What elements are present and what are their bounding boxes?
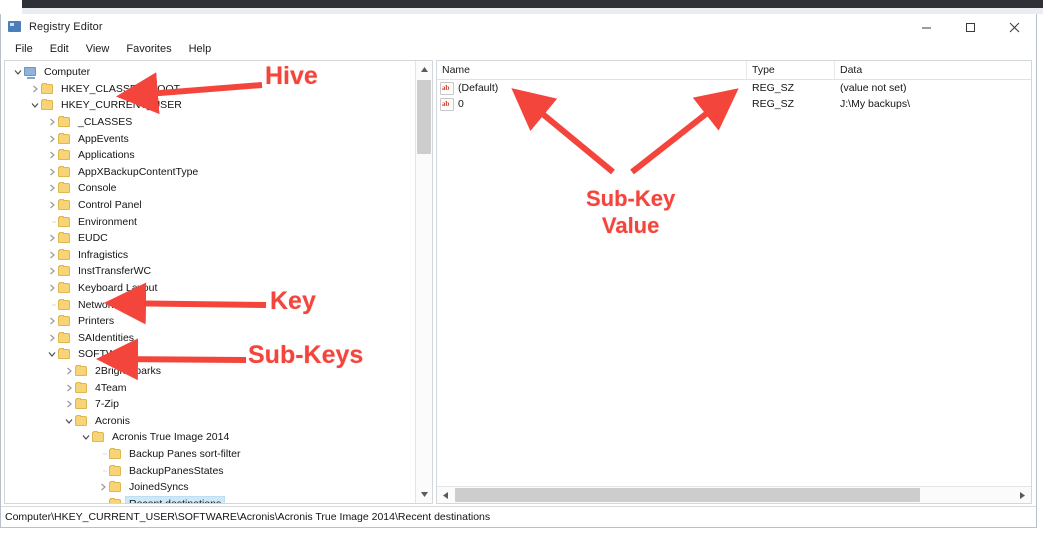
- tree-item-label: InstTransferWC: [75, 264, 154, 278]
- folder-icon: [58, 149, 71, 161]
- tree-item-label: Environment: [75, 215, 140, 229]
- tree-item-label: Infragistics: [75, 248, 131, 262]
- folder-icon: [75, 365, 88, 377]
- chevron-down-icon[interactable]: [62, 413, 75, 429]
- desktop-top-band: [0, 0, 1057, 14]
- tree-item[interactable]: Printers: [5, 313, 416, 330]
- chevron-right-icon[interactable]: [45, 197, 58, 213]
- value-name-label: (Default): [458, 82, 498, 94]
- tree-item-label: BackupPanesStates: [126, 464, 227, 478]
- tree-item-label: AppEvents: [75, 132, 132, 146]
- tree-item-label: Control Panel: [75, 198, 145, 212]
- folder-icon: [75, 382, 88, 394]
- menu-bar: File Edit View Favorites Help: [1, 40, 1036, 58]
- chevron-down-icon[interactable]: [45, 346, 58, 362]
- tree-item[interactable]: AppEvents: [5, 130, 416, 147]
- folder-icon: [75, 415, 88, 427]
- tree-item[interactable]: Environment: [5, 213, 416, 230]
- close-icon[interactable]: [992, 14, 1036, 40]
- registry-tree: ComputerHKEY_CLASSES_ROOTHKEY_CURRENT_US…: [5, 61, 416, 503]
- registry-tree-scroll: ComputerHKEY_CLASSES_ROOTHKEY_CURRENT_US…: [5, 61, 416, 503]
- value-row[interactable]: ab(Default)REG_SZ(value not set): [437, 80, 1031, 96]
- value-type-cell: REG_SZ: [747, 82, 835, 94]
- values-list-body: ab(Default)REG_SZ(value not set)ab0REG_S…: [437, 80, 1031, 112]
- chevron-right-icon[interactable]: [62, 363, 75, 379]
- chevron-right-icon[interactable]: [45, 180, 58, 196]
- tree-item[interactable]: Infragistics: [5, 247, 416, 264]
- folder-icon: [58, 332, 71, 344]
- tree-item-label: Network: [75, 298, 120, 312]
- annotation-subkeys: Sub-Keys: [248, 341, 363, 370]
- top-right-gap: [1043, 0, 1057, 14]
- column-header-data[interactable]: Data: [835, 61, 1030, 79]
- folder-icon: [109, 498, 122, 503]
- value-name-cell: ab0: [437, 98, 747, 111]
- tree-item[interactable]: BackupPanesStates: [5, 462, 416, 479]
- chevron-down-icon[interactable]: [416, 486, 433, 503]
- chevron-right-icon[interactable]: [96, 479, 109, 495]
- string-value-icon: ab: [440, 82, 454, 95]
- tree-item[interactable]: Console: [5, 180, 416, 197]
- folder-icon: [58, 315, 71, 327]
- annotation-subkey-value: Sub-Key Value: [586, 185, 675, 239]
- chevron-down-icon[interactable]: [28, 97, 41, 113]
- string-value-icon: ab: [440, 98, 454, 111]
- window-title: Registry Editor: [29, 21, 103, 33]
- tree-vertical-scrollbar[interactable]: [415, 61, 432, 503]
- folder-icon: [58, 182, 71, 194]
- status-bar: Computer\HKEY_CURRENT_USER\SOFTWARE\Acro…: [1, 506, 1036, 527]
- chevron-down-icon[interactable]: [79, 429, 92, 445]
- tree-item[interactable]: Keyboard Layout: [5, 280, 416, 297]
- chevron-right-icon[interactable]: [45, 147, 58, 163]
- registry-editor-icon: [8, 21, 22, 34]
- registry-editor-window: Registry Editor File Edit View Favorites…: [0, 14, 1037, 528]
- tree-item[interactable]: Backup Panes sort-filter: [5, 446, 416, 463]
- chevron-down-icon[interactable]: [11, 64, 24, 80]
- annotation-subkey-value-line2: Value: [586, 212, 675, 239]
- tree-item-label: Acronis True Image 2014: [109, 430, 232, 444]
- folder-icon: [58, 265, 71, 277]
- tree-item-label: Recent destinations: [126, 497, 224, 503]
- tree-scrollbar-thumb[interactable]: [417, 80, 431, 154]
- top-left-gap: [0, 0, 22, 14]
- folder-icon: [109, 481, 122, 493]
- tree-item[interactable]: 4Team: [5, 379, 416, 396]
- tree-item-label: Computer: [41, 65, 93, 79]
- tree-item[interactable]: Applications: [5, 147, 416, 164]
- tree-item-label: JoinedSyncs: [126, 480, 192, 494]
- values-list-header: Name Type Data: [437, 61, 1031, 80]
- tree-item-label: _CLASSES: [75, 115, 135, 129]
- tree-item-label: SAIdentities: [75, 331, 137, 345]
- tree-item-label: Acronis: [92, 414, 133, 428]
- tree-item[interactable]: 7-Zip: [5, 396, 416, 413]
- chevron-right-icon[interactable]: [28, 81, 41, 97]
- tree-indent-guide: [45, 214, 58, 230]
- folder-icon: [109, 448, 122, 460]
- tree-item-label: HKEY_CLASSES_ROOT: [58, 82, 183, 96]
- folder-icon: [58, 232, 71, 244]
- chevron-right-icon[interactable]: [45, 247, 58, 263]
- chevron-right-icon[interactable]: [45, 313, 58, 329]
- folder-icon: [58, 299, 71, 311]
- folder-icon: [41, 83, 54, 95]
- column-header-name[interactable]: Name: [437, 61, 747, 79]
- tree-item-label: 7-Zip: [92, 397, 122, 411]
- chevron-up-icon[interactable]: [416, 61, 433, 78]
- chevron-right-icon[interactable]: [45, 164, 58, 180]
- tree-item[interactable]: HKEY_CLASSES_ROOT: [5, 81, 416, 98]
- tree-indent-guide: [96, 463, 109, 479]
- annotation-hive: Hive: [265, 62, 318, 91]
- chevron-right-icon[interactable]: [45, 131, 58, 147]
- value-name-label: 0: [458, 98, 464, 110]
- folder-icon: [109, 465, 122, 477]
- menu-edit[interactable]: Edit: [42, 41, 77, 57]
- tree-item-label: 2BrightSparks: [92, 364, 164, 378]
- tree-item-label: HKEY_CURRENT_USER: [58, 98, 185, 112]
- folder-icon: [58, 116, 71, 128]
- folder-icon: [58, 216, 71, 228]
- tree-item[interactable]: Network: [5, 296, 416, 313]
- tree-item-label: Printers: [75, 314, 117, 328]
- value-data-cell: J:\My backups\: [835, 98, 1030, 110]
- folder-icon: [92, 431, 105, 443]
- registry-tree-pane: ComputerHKEY_CLASSES_ROOTHKEY_CURRENT_US…: [4, 60, 433, 504]
- computer-icon: [24, 66, 37, 78]
- menu-help[interactable]: Help: [181, 41, 220, 57]
- tree-item[interactable]: Computer: [5, 64, 416, 81]
- chevron-right-icon[interactable]: [45, 280, 58, 296]
- minimize-icon[interactable]: [904, 14, 948, 40]
- status-path: Computer\HKEY_CURRENT_USER\SOFTWARE\Acro…: [1, 511, 490, 523]
- column-header-type[interactable]: Type: [747, 61, 835, 79]
- tree-item[interactable]: Acronis: [5, 412, 416, 429]
- annotation-key: Key: [270, 287, 316, 316]
- chevron-right-icon[interactable]: [45, 330, 58, 346]
- value-type-cell: REG_SZ: [747, 98, 835, 110]
- tree-item[interactable]: Acronis True Image 2014: [5, 429, 416, 446]
- tree-item-label: EUDC: [75, 231, 111, 245]
- tree-item[interactable]: InstTransferWC: [5, 263, 416, 280]
- tree-indent-guide: [45, 297, 58, 313]
- tree-item-label: SOFTWARE: [75, 347, 140, 361]
- tree-indent-guide: [96, 446, 109, 462]
- menu-favorites[interactable]: Favorites: [118, 41, 179, 57]
- folder-icon: [41, 99, 54, 111]
- menu-view[interactable]: View: [78, 41, 118, 57]
- tree-item-label: AppXBackupContentType: [75, 165, 201, 179]
- tree-item[interactable]: EUDC: [5, 230, 416, 247]
- tree-item[interactable]: JoinedSyncs: [5, 479, 416, 496]
- folder-icon: [58, 282, 71, 294]
- top-dark-strip: [0, 0, 1057, 8]
- tree-item-label: Keyboard Layout: [75, 281, 160, 295]
- folder-icon: [58, 166, 71, 178]
- maximize-icon[interactable]: [948, 14, 992, 40]
- chevron-right-icon[interactable]: [62, 396, 75, 412]
- folder-icon: [58, 133, 71, 145]
- tree-item[interactable]: Recent destinations: [5, 495, 416, 503]
- chevron-right-icon[interactable]: [45, 230, 58, 246]
- value-row[interactable]: ab0REG_SZJ:\My backups\: [437, 96, 1031, 112]
- tree-item[interactable]: HKEY_CURRENT_USER: [5, 97, 416, 114]
- value-name-cell: ab(Default): [437, 82, 747, 95]
- main-content: ComputerHKEY_CLASSES_ROOTHKEY_CURRENT_US…: [4, 60, 1033, 504]
- tree-item-label: 4Team: [92, 381, 130, 395]
- values-list-pane: Name Type Data ab(Default)REG_SZ(value n…: [436, 60, 1032, 504]
- chevron-right-icon[interactable]: [62, 380, 75, 396]
- tree-item-label: Backup Panes sort-filter: [126, 447, 243, 461]
- folder-icon: [58, 199, 71, 211]
- title-bar[interactable]: Registry Editor: [1, 14, 1036, 40]
- window-controls: [904, 14, 1036, 40]
- tree-item[interactable]: _CLASSES: [5, 114, 416, 131]
- chevron-right-icon[interactable]: [1014, 487, 1031, 503]
- annotation-subkey-value-line1: Sub-Key: [586, 185, 675, 212]
- folder-icon: [58, 348, 71, 360]
- list-horizontal-scrollbar[interactable]: [437, 486, 1031, 503]
- value-data-cell: (value not set): [835, 82, 1030, 94]
- tree-item-label: Applications: [75, 148, 138, 162]
- tree-item[interactable]: Control Panel: [5, 197, 416, 214]
- tree-item-label: Console: [75, 181, 120, 195]
- list-scrollbar-thumb[interactable]: [455, 488, 920, 502]
- chevron-right-icon[interactable]: [45, 263, 58, 279]
- chevron-left-icon[interactable]: [437, 487, 454, 503]
- folder-icon: [75, 398, 88, 410]
- menu-file[interactable]: File: [7, 41, 41, 57]
- tree-item[interactable]: AppXBackupContentType: [5, 164, 416, 181]
- folder-icon: [58, 249, 71, 261]
- tree-indent-guide: [96, 496, 109, 503]
- chevron-right-icon[interactable]: [45, 114, 58, 130]
